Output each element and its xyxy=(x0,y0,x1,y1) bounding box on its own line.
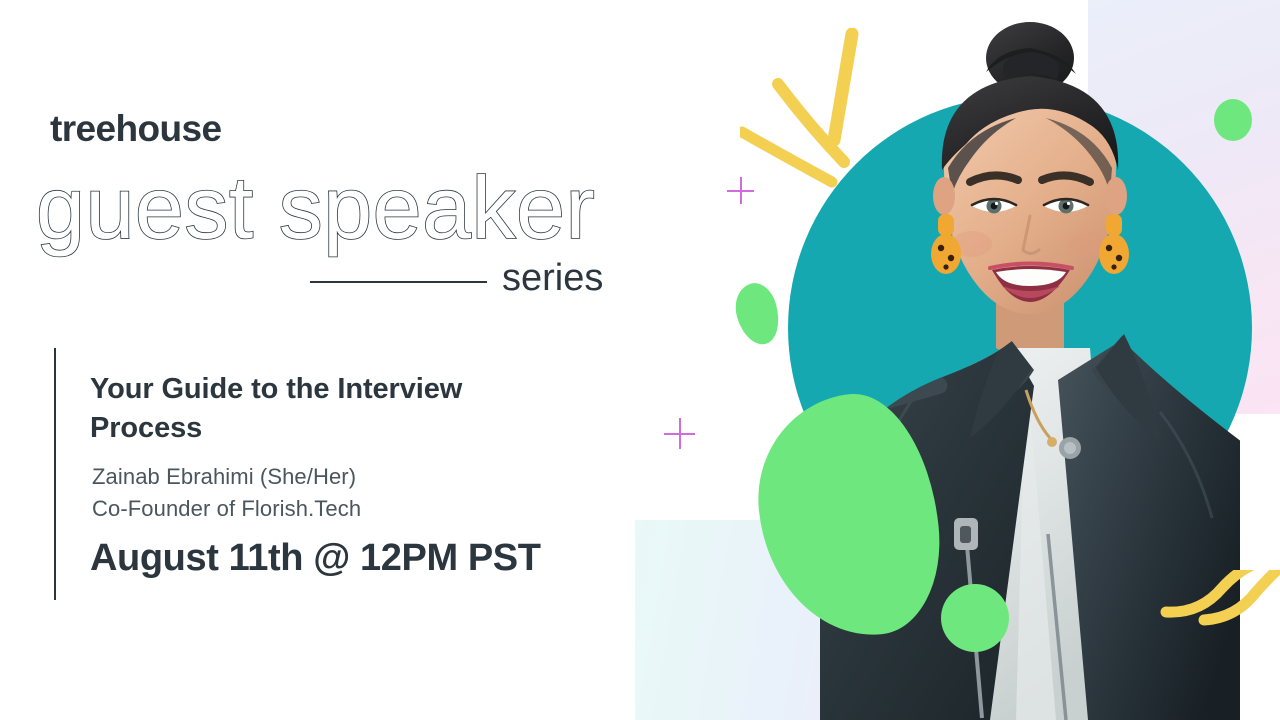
plus-icon-lower xyxy=(664,418,695,449)
event-datetime: August 11th @ 12PM PST xyxy=(90,536,541,582)
plus-icon-upper xyxy=(727,177,754,204)
yellow-swoosh-icon xyxy=(1160,570,1280,680)
green-blob-icon-small xyxy=(729,279,786,350)
speaker-role: Co-Founder of Florish.Tech xyxy=(92,493,361,524)
series-label: series xyxy=(502,258,603,300)
left-vertical-rule xyxy=(54,348,56,600)
speaker-name: Zainab Ebrahimi (She/Her) xyxy=(92,461,356,492)
yellow-rays-icon xyxy=(740,28,910,198)
guest-speaker-wordmark: guest speaker xyxy=(36,158,646,263)
green-circle-icon-bottom xyxy=(941,584,1009,652)
slide-canvas: treehouse guest speaker series Your Guid… xyxy=(0,0,1280,720)
series-divider xyxy=(310,281,487,283)
talk-title: Your Guide to the Interview Process xyxy=(90,370,560,447)
wordmark-text: guest speaker xyxy=(36,158,595,257)
brand-name: treehouse xyxy=(50,110,221,147)
